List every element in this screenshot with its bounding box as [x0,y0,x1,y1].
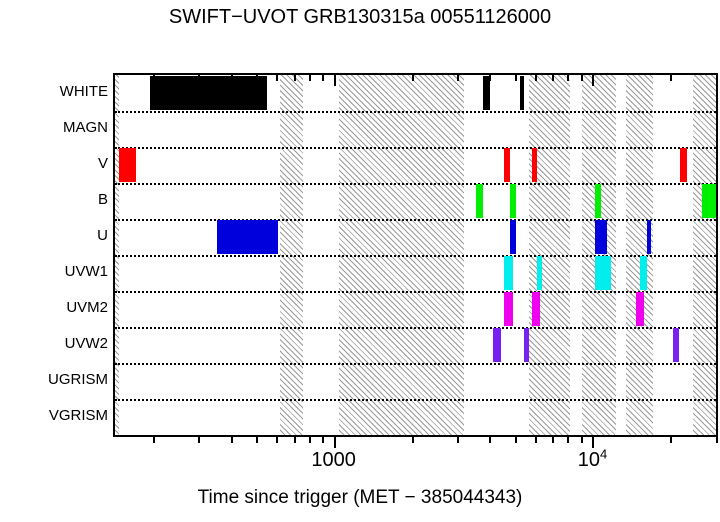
observation-bar-b [476,184,483,218]
observation-bar-u [647,220,651,254]
x-axis-minor-tick [489,437,491,443]
x-axis-minor-tick [581,437,583,443]
row-separator [115,111,716,113]
y-axis-label-v: V [4,155,108,172]
observation-bar-uvw1 [595,256,611,290]
x-axis-minor-tick-inner [153,75,155,81]
observation-bar-v [532,148,537,182]
x-axis-inner-ticks [115,75,716,89]
x-axis-minor-tick [552,437,554,443]
row-separator [115,219,716,221]
x-axis-tick-label: 1000 [311,449,356,472]
x-axis-minor-tick-inner [412,75,414,81]
x-axis-minor-tick [198,437,200,443]
x-axis-minor-tick [535,437,537,443]
plot-area [113,73,718,437]
x-axis-minor-tick [231,437,233,443]
x-axis-minor-tick [276,437,278,443]
plot-inner [115,75,716,435]
x-axis-minor-tick [457,437,459,443]
tick-label-exponent: 4 [600,446,607,461]
x-axis-major-tick [334,437,336,448]
observation-bar-uvw2 [493,328,501,362]
x-axis-minor-tick-inner [489,75,491,81]
y-axis-label-ugrism: UGRISM [4,371,108,388]
x-axis-minor-tick-inner [515,75,517,81]
observation-bar-b [702,184,716,218]
x-axis-minor-tick-inner [294,75,296,81]
y-axis-label-uvw1: UVW1 [4,263,108,280]
observation-bar-u [510,220,516,254]
observation-bar-uvw1 [640,256,648,290]
observation-bar-uvm2 [532,292,540,326]
observation-bar-uvw1 [504,256,513,290]
x-axis-minor-tick-inner [581,75,583,81]
tick-label-base: 10 [578,449,600,471]
row-separator [115,291,716,293]
x-axis-title: Time since trigger (MET − 385044343) [0,487,720,509]
row-separator [115,147,716,149]
observation-bar-u [217,220,278,254]
y-axis-label-uvw2: UVW2 [4,335,108,352]
y-axis-label-white: WHITE [4,83,108,100]
observation-bar-uvm2 [504,292,513,326]
x-axis-minor-tick-inner [535,75,537,81]
x-axis-tick-label: 104 [578,449,607,472]
observation-bar-v [680,148,687,182]
x-axis-minor-tick [294,437,296,443]
x-axis-minor-tick-inner [198,75,200,81]
y-axis-label-vgrism: VGRISM [4,407,108,424]
observation-bar-b [510,184,516,218]
observation-bar-v [504,148,510,182]
x-axis-minor-tick-inner [670,75,672,81]
observation-bar-uvw2 [524,328,529,362]
observation-bar-u [595,220,608,254]
row-separator [115,363,716,365]
x-axis-minor-tick [670,437,672,443]
observation-bar-b [595,184,601,218]
x-axis-minor-tick [515,437,517,443]
uvot-observation-timeline-figure: SWIFT−UVOT GRB130315a 00551126000 WHITEM… [0,0,720,522]
x-axis-minor-tick-inner [716,75,718,81]
observation-bar-uvw2 [673,328,679,362]
x-axis-minor-tick-inner [552,75,554,81]
y-axis-label-uvm2: UVM2 [4,299,108,316]
x-axis-minor-tick-inner [276,75,278,81]
y-axis-labels: WHITEMAGNVBUUVW1UVM2UVW2UGRISMVGRISM [0,73,108,437]
row-separator [115,183,716,185]
page-title: SWIFT−UVOT GRB130315a 00551126000 [0,6,720,29]
x-axis-minor-tick [309,437,311,443]
x-axis-minor-tick [256,437,258,443]
x-axis-minor-tick-inner [567,75,569,81]
x-axis-minor-tick-inner [309,75,311,81]
x-axis-minor-tick-inner [256,75,258,81]
y-axis-label-u: U [4,227,108,244]
x-axis-minor-tick [153,437,155,443]
x-axis-ticks [113,437,718,451]
row-separator [115,255,716,257]
x-axis-minor-tick-inner [457,75,459,81]
x-axis-minor-tick [567,437,569,443]
x-axis-minor-tick-inner [231,75,233,81]
x-axis-minor-tick-inner [322,75,324,81]
x-axis-minor-tick [716,437,718,443]
x-axis-minor-tick [322,437,324,443]
observation-bar-v [119,148,136,182]
x-axis-major-tick-inner [592,75,594,86]
x-axis-major-tick [592,437,594,448]
y-axis-label-magn: MAGN [4,119,108,136]
x-axis-minor-tick [412,437,414,443]
y-axis-label-b: B [4,191,108,208]
row-separator [115,399,716,401]
x-axis-major-tick-inner [334,75,336,86]
observation-bar-uvw1 [537,256,542,290]
row-separator [115,327,716,329]
observation-bar-uvm2 [636,292,644,326]
